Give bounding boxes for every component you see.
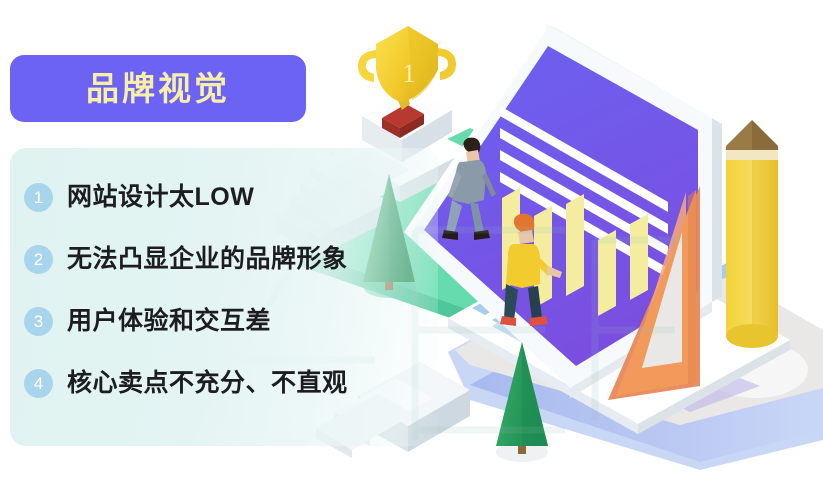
- trophy-rank-label: 1: [403, 59, 416, 88]
- bullet-number-3: 3: [24, 307, 53, 336]
- bullet-text-2: 无法凸显企业的品牌形象: [67, 247, 348, 272]
- pencil: [726, 120, 778, 348]
- infographic-canvas: 1: [0, 0, 823, 500]
- list-item: 3 用户体验和交互差: [18, 290, 438, 352]
- bullet-text-4: 核心卖点不充分、不直观: [67, 371, 348, 396]
- title-badge: 品牌视觉: [10, 55, 306, 122]
- bullet-list: 1 网站设计太LOW 2 无法凸显企业的品牌形象 3 用户体验和交互差 4 核心…: [18, 166, 438, 414]
- bullet-text-1: 网站设计太LOW: [67, 185, 254, 210]
- page-title: 品牌视觉: [86, 72, 230, 105]
- list-item: 2 无法凸显企业的品牌形象: [18, 228, 438, 290]
- bullet-number-4: 4: [24, 369, 53, 398]
- bullet-text-3: 用户体验和交互差: [67, 309, 271, 334]
- list-item: 1 网站设计太LOW: [18, 166, 438, 228]
- bullet-number-1: 1: [24, 183, 53, 212]
- bullet-number-2: 2: [24, 245, 53, 274]
- list-item: 4 核心卖点不充分、不直观: [18, 352, 438, 414]
